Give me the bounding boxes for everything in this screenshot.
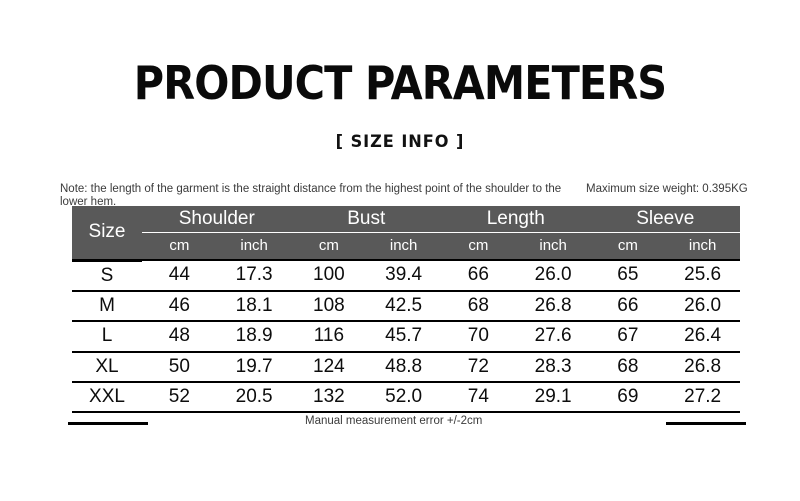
size-chart-page: PRODUCT PARAMETERS [ SIZE INFO ] Note: t… bbox=[0, 0, 800, 501]
cell-shoulder-inch: 18.9 bbox=[217, 321, 292, 351]
cell-bust-cm: 100 bbox=[292, 260, 367, 291]
column-header-size: Size bbox=[72, 206, 142, 260]
cell-sleeve-inch: 26.8 bbox=[665, 352, 740, 382]
cell-length-inch: 26.8 bbox=[516, 291, 591, 321]
unit-header-shoulder-inch: inch bbox=[217, 233, 292, 261]
size-table-container: Size Shoulder Bust Length Sleeve cm inch… bbox=[72, 206, 740, 413]
cell-sleeve-inch: 27.2 bbox=[665, 382, 740, 412]
cell-shoulder-inch: 18.1 bbox=[217, 291, 292, 321]
cell-bust-cm: 132 bbox=[292, 382, 367, 412]
length-measurement-note: Note: the length of the garment is the s… bbox=[60, 183, 580, 208]
cell-shoulder-cm: 44 bbox=[142, 260, 217, 291]
cell-bust-inch: 42.5 bbox=[366, 291, 441, 321]
cell-sleeve-inch: 26.4 bbox=[665, 321, 740, 351]
cell-shoulder-cm: 48 bbox=[142, 321, 217, 351]
cell-bust-cm: 124 bbox=[292, 352, 367, 382]
cell-shoulder-inch: 17.3 bbox=[217, 260, 292, 291]
cell-sleeve-cm: 67 bbox=[591, 321, 666, 351]
cell-length-inch: 28.3 bbox=[516, 352, 591, 382]
cell-sleeve-cm: 65 bbox=[591, 260, 666, 291]
size-table-head: Size Shoulder Bust Length Sleeve cm inch… bbox=[72, 206, 740, 260]
column-header-bust: Bust bbox=[292, 206, 442, 233]
maximum-weight-note: Maximum size weight: 0.395KG bbox=[586, 183, 756, 196]
table-row: XL 50 19.7 124 48.8 72 28.3 68 26.8 bbox=[72, 352, 740, 382]
cell-length-cm: 66 bbox=[441, 260, 516, 291]
column-header-sleeve: Sleeve bbox=[591, 206, 741, 233]
size-table: Size Shoulder Bust Length Sleeve cm inch… bbox=[72, 206, 740, 413]
table-row: S 44 17.3 100 39.4 66 26.0 65 25.6 bbox=[72, 260, 740, 291]
table-row: M 46 18.1 108 42.5 68 26.8 66 26.0 bbox=[72, 291, 740, 321]
cell-bust-inch: 45.7 bbox=[366, 321, 441, 351]
cell-size: XXL bbox=[72, 382, 142, 412]
cell-length-cm: 72 bbox=[441, 352, 516, 382]
cell-sleeve-cm: 66 bbox=[591, 291, 666, 321]
cell-length-inch: 27.6 bbox=[516, 321, 591, 351]
cell-shoulder-inch: 19.7 bbox=[217, 352, 292, 382]
cell-length-inch: 29.1 bbox=[516, 382, 591, 412]
cell-length-inch: 26.0 bbox=[516, 260, 591, 291]
cell-bust-cm: 108 bbox=[292, 291, 367, 321]
unit-header-sleeve-inch: inch bbox=[665, 233, 740, 261]
footer-divider-left bbox=[68, 422, 148, 425]
cell-length-cm: 68 bbox=[441, 291, 516, 321]
column-header-length: Length bbox=[441, 206, 591, 233]
cell-size: S bbox=[72, 260, 142, 291]
cell-bust-inch: 52.0 bbox=[366, 382, 441, 412]
footer-divider-right bbox=[666, 422, 746, 425]
cell-bust-inch: 39.4 bbox=[366, 260, 441, 291]
cell-shoulder-cm: 52 bbox=[142, 382, 217, 412]
table-header-unit-row: cm inch cm inch cm inch cm inch bbox=[72, 233, 740, 261]
cell-shoulder-cm: 50 bbox=[142, 352, 217, 382]
table-row: L 48 18.9 116 45.7 70 27.6 67 26.4 bbox=[72, 321, 740, 351]
unit-header-bust-cm: cm bbox=[292, 233, 367, 261]
cell-sleeve-inch: 25.6 bbox=[665, 260, 740, 291]
column-header-shoulder: Shoulder bbox=[142, 206, 292, 233]
cell-shoulder-inch: 20.5 bbox=[217, 382, 292, 412]
cell-shoulder-cm: 46 bbox=[142, 291, 217, 321]
cell-sleeve-cm: 69 bbox=[591, 382, 666, 412]
table-header-group-row: Size Shoulder Bust Length Sleeve bbox=[72, 206, 740, 233]
page-title: PRODUCT PARAMETERS bbox=[40, 57, 760, 109]
cell-bust-inch: 48.8 bbox=[366, 352, 441, 382]
unit-header-sleeve-cm: cm bbox=[591, 233, 666, 261]
unit-header-length-cm: cm bbox=[441, 233, 516, 261]
cell-size: M bbox=[72, 291, 142, 321]
measurement-error-note: Manual measurement error +/-2cm bbox=[305, 415, 535, 428]
table-row: XXL 52 20.5 132 52.0 74 29.1 69 27.2 bbox=[72, 382, 740, 412]
cell-sleeve-inch: 26.0 bbox=[665, 291, 740, 321]
section-subtitle: [ SIZE INFO ] bbox=[20, 131, 780, 153]
cell-length-cm: 70 bbox=[441, 321, 516, 351]
size-table-body: S 44 17.3 100 39.4 66 26.0 65 25.6 M 46 … bbox=[72, 260, 740, 412]
cell-size: XL bbox=[72, 352, 142, 382]
unit-header-bust-inch: inch bbox=[366, 233, 441, 261]
unit-header-shoulder-cm: cm bbox=[142, 233, 217, 261]
unit-header-length-inch: inch bbox=[516, 233, 591, 261]
cell-length-cm: 74 bbox=[441, 382, 516, 412]
cell-size: L bbox=[72, 321, 142, 351]
cell-bust-cm: 116 bbox=[292, 321, 367, 351]
cell-sleeve-cm: 68 bbox=[591, 352, 666, 382]
